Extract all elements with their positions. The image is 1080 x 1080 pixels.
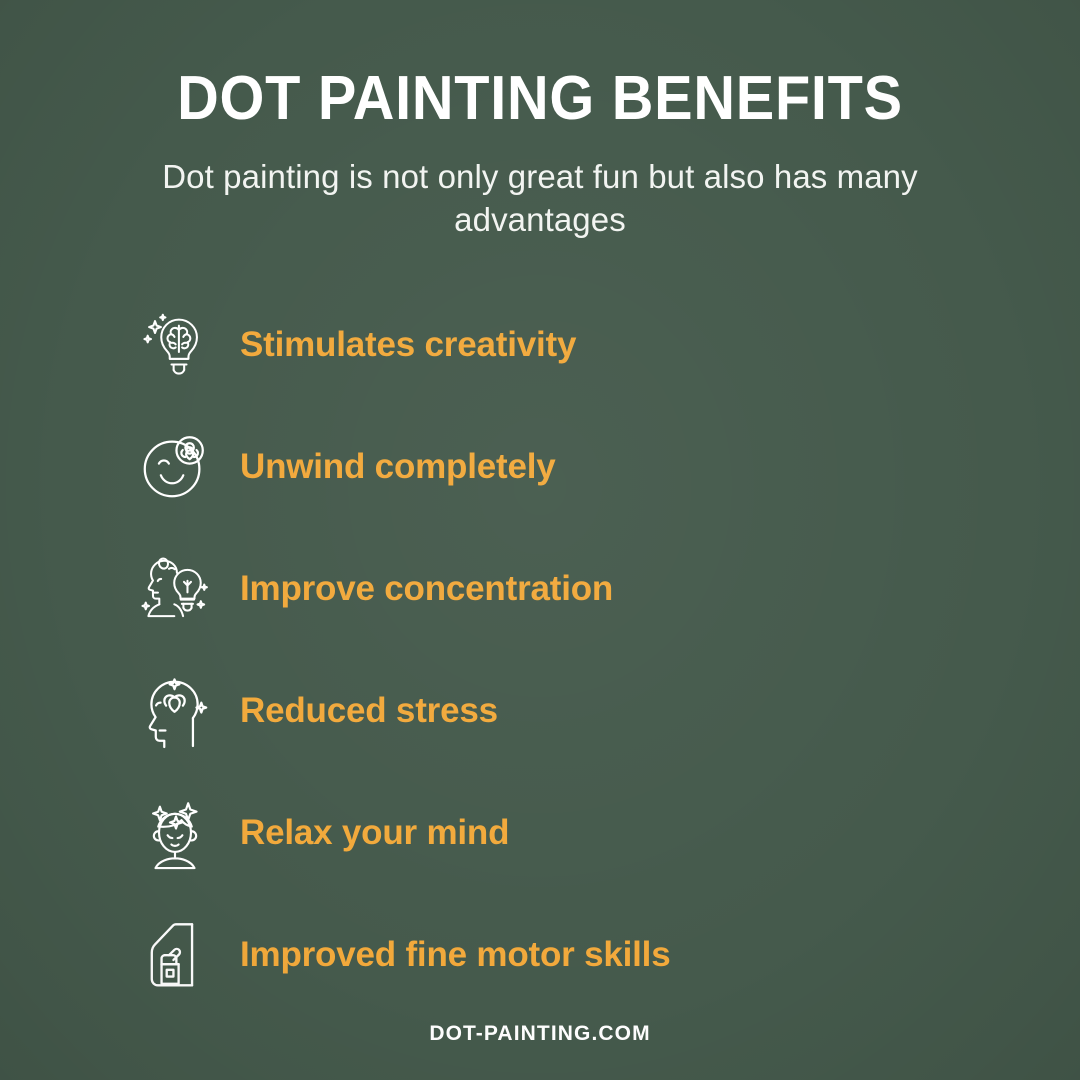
benefits-list: Stimulates creativity Unwind completely — [0, 284, 1080, 1016]
benefit-label: Relax your mind — [240, 813, 509, 853]
website-url: DOT-PAINTING.COM — [429, 1022, 650, 1045]
benefit-item-stimulates-creativity: Stimulates creativity — [136, 284, 1080, 406]
page-title: DOT PAINTING BENEFITS — [38, 68, 1042, 130]
benefit-label: Improve concentration — [240, 569, 613, 609]
benefit-label: Unwind completely — [240, 447, 556, 487]
poster-canvas: DOT PAINTING BENEFITS Dot painting is no… — [0, 0, 1080, 1080]
benefit-label: Stimulates creativity — [240, 325, 576, 365]
benefit-item-improved-fine-motor-skills: Improved fine motor skills — [136, 894, 1080, 1016]
poster-subtitle: Dot painting is not only great fun but a… — [145, 156, 935, 242]
benefit-item-reduced-stress: Reduced stress — [136, 650, 1080, 772]
smiling-face-flower-icon — [136, 428, 214, 506]
benefit-label: Reduced stress — [240, 691, 498, 731]
brain-lightbulb-icon — [136, 306, 214, 384]
head-lotus-icon — [136, 672, 214, 750]
calm-face-sparkles-icon — [136, 794, 214, 872]
head-lightbulb-icon — [136, 550, 214, 628]
benefit-item-unwind-completely: Unwind completely — [136, 406, 1080, 528]
hand-holding-tool-icon — [136, 916, 214, 994]
poster-header: DOT PAINTING BENEFITS Dot painting is no… — [0, 0, 1080, 242]
benefit-item-relax-your-mind: Relax your mind — [136, 772, 1080, 894]
benefit-label: Improved fine motor skills — [240, 935, 670, 975]
benefit-item-improve-concentration: Improve concentration — [136, 528, 1080, 650]
poster-footer: DOT-PAINTING.COM — [0, 1022, 1080, 1046]
